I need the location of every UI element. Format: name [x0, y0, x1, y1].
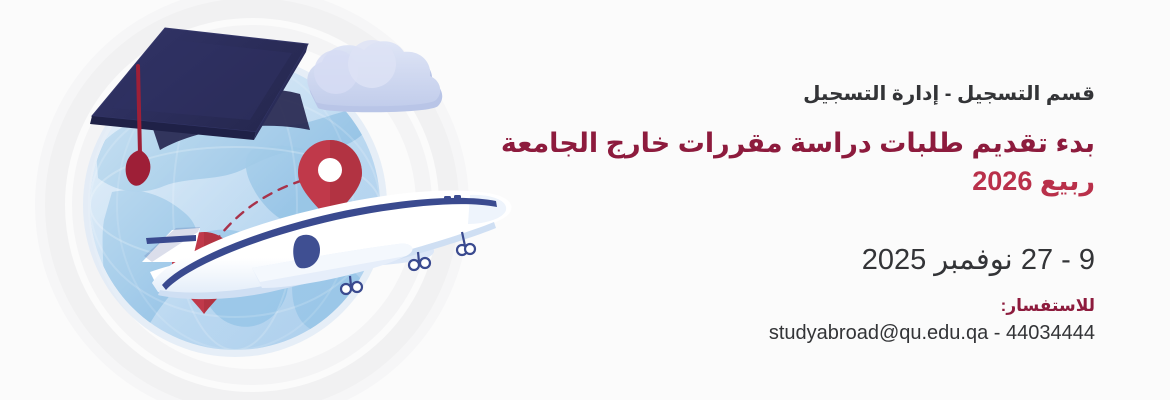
page-title: بدء تقديم طلبات دراسة مقررات خارج الجامع… [495, 124, 1095, 201]
contact-details: studyabroad@qu.edu.qa - 44034444 [495, 320, 1095, 346]
banner-text-block: قسم التسجيل - إدارة التسجيل بدء تقديم طل… [495, 82, 1095, 346]
study-abroad-illustration [0, 0, 560, 400]
enquiry-label: للاستفسار: [495, 295, 1095, 317]
event-date: 9 - 27 نوفمبر 2025 [495, 243, 1095, 278]
headline-term: ربيع 2026 [495, 162, 1095, 200]
headline-main: بدء تقديم طلبات دراسة مقررات خارج الجامع… [501, 128, 1095, 158]
study-abroad-banner: قسم التسجيل - إدارة التسجيل بدء تقديم طل… [0, 0, 1170, 400]
cloud-icon [307, 40, 442, 112]
department-line: قسم التسجيل - إدارة التسجيل [495, 82, 1095, 106]
